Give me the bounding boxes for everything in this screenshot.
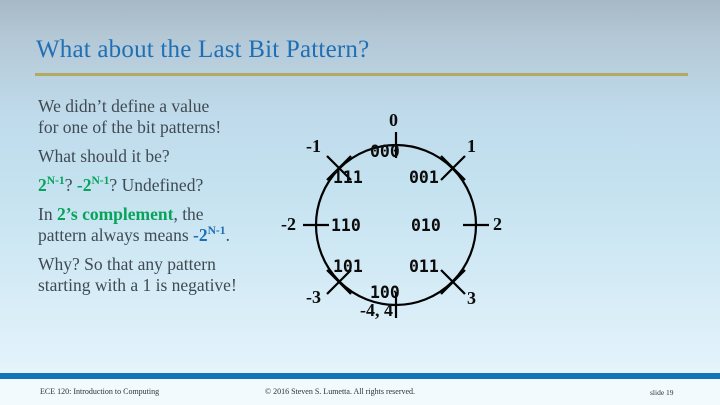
body-paragraph-4: In 2’s complement, the pattern always me… [38, 204, 313, 246]
title-divider [35, 73, 688, 76]
line4-prefix: In [38, 204, 57, 224]
footer: ECE 120: Introduction to Computing © 201… [0, 379, 720, 405]
value-label-0: 0 [389, 110, 398, 131]
term-pos-power-suffix: ? [65, 175, 77, 195]
term-neg-power-suffix: ? [109, 175, 121, 195]
body-paragraph-5: Why? So that any pattern starting with a… [38, 254, 313, 296]
term-neg-power-base: -2 [77, 175, 92, 195]
body-line-1b: for one of the bit patterns! [38, 117, 221, 137]
term-neg-power: -2N-1 [77, 175, 110, 195]
value-label-minus2: -2 [281, 214, 296, 235]
bit-pattern-001: 001 [409, 168, 439, 187]
twos-complement-emphasis: 2’s complement [57, 204, 173, 224]
body-line-2: What should it be? [38, 146, 170, 166]
term-pos-power: 2N-1 [38, 175, 65, 195]
term-neg-power-exponent: N-1 [91, 175, 109, 187]
pattern-value-exponent: N-1 [208, 225, 226, 237]
body-line-6b: starting with a 1 is negative! [38, 275, 237, 295]
bit-pattern-110: 110 [331, 216, 361, 235]
page-title: What about the Last Bit Pattern? [36, 36, 369, 64]
line4-suffix: , the [173, 204, 203, 224]
term-pos-power-base: 2 [38, 175, 47, 195]
body-text-block: We didn’t define a value for one of the … [38, 96, 313, 304]
pattern-value-base: -2 [193, 225, 208, 245]
undefined-option: Undefined? [122, 175, 204, 195]
body-line-1a: We didn’t define a value [38, 96, 209, 116]
line5-prefix: pattern always means [38, 225, 193, 245]
body-line-6a: Why? So that any pattern [38, 254, 216, 274]
three-bit-number-circle: 000 001 010 011 100 101 110 111 0 1 2 3 … [282, 92, 512, 320]
bit-pattern-010: 010 [411, 216, 441, 235]
footer-copyright: © 2016 Steven S. Lumetta. All rights res… [265, 387, 415, 396]
bit-pattern-000: 000 [370, 142, 400, 161]
pattern-value-term: -2N-1 [193, 225, 226, 245]
body-paragraph-2: What should it be? [38, 146, 313, 167]
body-paragraph-1: We didn’t define a value for one of the … [38, 96, 313, 138]
slide-canvas: What about the Last Bit Pattern? We didn… [0, 0, 720, 405]
value-label-2: 2 [493, 214, 502, 235]
value-label-minus1: -1 [306, 136, 321, 157]
term-pos-power-exponent: N-1 [47, 175, 65, 187]
value-label-1: 1 [467, 136, 476, 157]
value-label-3: 3 [467, 288, 476, 309]
value-label-minus4-4: -4, 4 [360, 300, 393, 321]
line5-period: . [226, 225, 230, 245]
bit-pattern-011: 011 [409, 257, 439, 276]
value-label-minus3: -3 [306, 287, 321, 308]
footer-course-name: ECE 120: Introduction to Computing [40, 387, 159, 396]
body-paragraph-3: 2N-1? -2N-1? Undefined? [38, 175, 313, 196]
footer-slide-number: slide 19 [650, 388, 674, 397]
bit-pattern-111: 111 [333, 168, 363, 187]
bit-pattern-101: 101 [333, 257, 363, 276]
